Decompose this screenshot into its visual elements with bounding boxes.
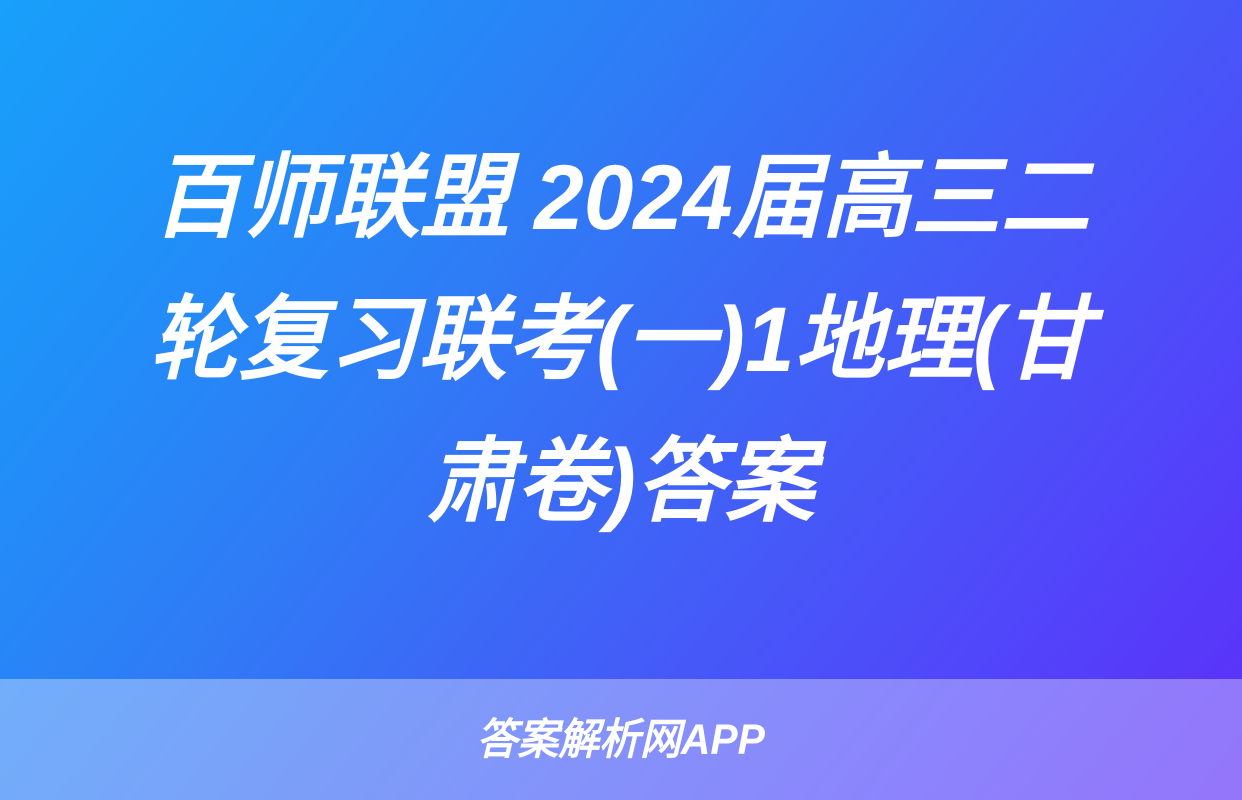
footer-band: 答案解析网APP	[0, 679, 1242, 800]
headline-line-2: 轮复习联考(一)1地理(甘	[94, 269, 1147, 411]
app-watermark-label: 答案解析网APP	[477, 717, 765, 763]
headline-line-3: 肃卷)答案	[94, 411, 1147, 553]
headline-line-1: 百师联盟 2024届高三二	[94, 127, 1147, 269]
headline-block: 百师联盟 2024届高三二 轮复习联考(一)1地理(甘 肃卷)答案	[0, 0, 1242, 679]
answer-card-poster: 百师联盟 2024届高三二 轮复习联考(一)1地理(甘 肃卷)答案 答案解析网A…	[0, 0, 1242, 800]
